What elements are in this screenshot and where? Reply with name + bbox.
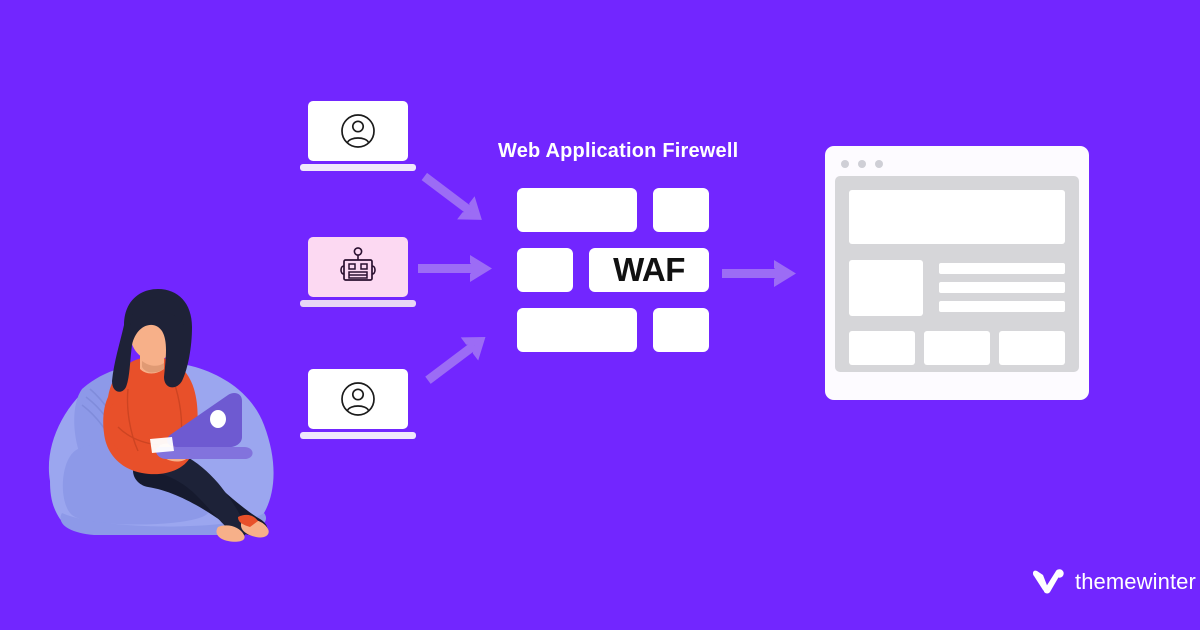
illustration-woman-with-laptop — [32, 285, 322, 545]
client-laptop-user-bottom[interactable] — [306, 369, 410, 439]
waf-brick-row — [517, 188, 709, 232]
laptop-base — [300, 432, 416, 439]
client-laptop-bot[interactable] — [306, 237, 410, 307]
cuff — [150, 437, 174, 453]
user-avatar-icon — [338, 111, 378, 151]
waf-diagram-canvas: Web Application Firewell WAF — [0, 0, 1200, 630]
waf-brick — [653, 188, 709, 232]
waf-brick-row: WAF — [517, 248, 709, 292]
brand-logo[interactable]: themewinter — [1032, 568, 1196, 596]
arrow-waf-to-website — [722, 258, 802, 293]
client-laptop-user-top[interactable] — [306, 101, 410, 171]
window-dot-maximize-icon — [875, 160, 883, 168]
window-dot-minimize-icon — [858, 160, 866, 168]
waf-brick — [517, 308, 637, 352]
browser-content-area — [835, 176, 1079, 372]
laptop-screen — [308, 237, 408, 297]
page-title: Web Application Firewell — [498, 140, 828, 163]
user-avatar-icon — [338, 379, 378, 419]
wireframe-media-row — [849, 260, 1065, 316]
brand-wordmark: themewinter — [1075, 569, 1196, 595]
wireframe-line — [939, 301, 1065, 312]
wireframe-hero-block — [849, 190, 1065, 244]
waf-brick — [653, 308, 709, 352]
wireframe-card — [924, 331, 990, 365]
wireframe-line — [939, 263, 1065, 274]
wireframe-thumbnail — [849, 260, 923, 316]
website-browser-window[interactable] — [825, 146, 1089, 400]
waf-brick-wall: WAF — [517, 188, 709, 368]
arrow-bottom-to-waf — [418, 330, 498, 390]
wireframe-card — [999, 331, 1065, 365]
wireframe-card-row — [849, 331, 1065, 365]
browser-window-controls — [835, 156, 1079, 176]
arrow-top-to-waf — [415, 172, 495, 232]
robot-icon — [336, 246, 380, 288]
wireframe-line — [939, 282, 1065, 293]
waf-label: WAF — [589, 248, 709, 292]
laptop-base — [300, 164, 416, 171]
laptop-logo — [210, 410, 226, 428]
laptop-screen — [308, 101, 408, 161]
themewinter-mark-icon — [1032, 568, 1066, 596]
waf-brick-row — [517, 308, 709, 352]
window-dot-close-icon — [841, 160, 849, 168]
wireframe-text-lines — [939, 260, 1065, 316]
laptop-base — [300, 300, 416, 307]
waf-brick — [517, 248, 573, 292]
arrow-middle-to-waf — [418, 253, 498, 288]
wireframe-card — [849, 331, 915, 365]
laptop-screen — [308, 369, 408, 429]
waf-brick — [517, 188, 637, 232]
